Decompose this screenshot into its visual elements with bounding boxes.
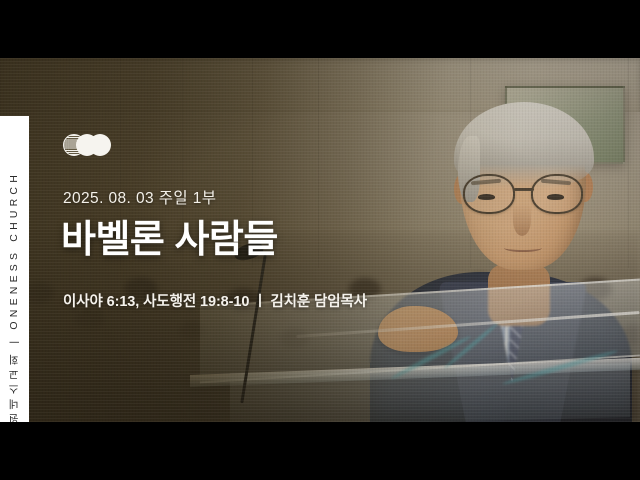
sermon-title: 바벨론 사람들 <box>61 220 278 262</box>
scripture-and-speaker: 이사야 6:13, 사도행전 19:8-10 ㅣ 김치훈 담임목사 <box>63 290 367 311</box>
oneness-three-discs-logo <box>63 134 111 156</box>
church-brand-label: 원네스교회 | ONENESS CHURCH <box>9 171 20 422</box>
pulpit-base <box>230 363 630 422</box>
logo-disc-solid-2 <box>89 134 111 156</box>
nose <box>513 204 531 236</box>
letterbox-bottom <box>0 422 640 480</box>
video-stage: 2025. 08. 03 주일 1부 바벨론 사람들 이사야 6:13, 사도행… <box>0 58 640 422</box>
service-date-line: 2025. 08. 03 주일 1부 <box>63 186 216 208</box>
church-brand-sidebar: 원네스교회 | ONENESS CHURCH <box>0 116 29 422</box>
glasses-bridge <box>514 188 534 191</box>
lens-left <box>463 174 515 214</box>
video-frame: 2025. 08. 03 주일 1부 바벨론 사람들 이사야 6:13, 사도행… <box>0 0 640 480</box>
mouth <box>504 244 542 252</box>
letterbox-top <box>0 0 640 58</box>
lens-right <box>531 174 583 214</box>
